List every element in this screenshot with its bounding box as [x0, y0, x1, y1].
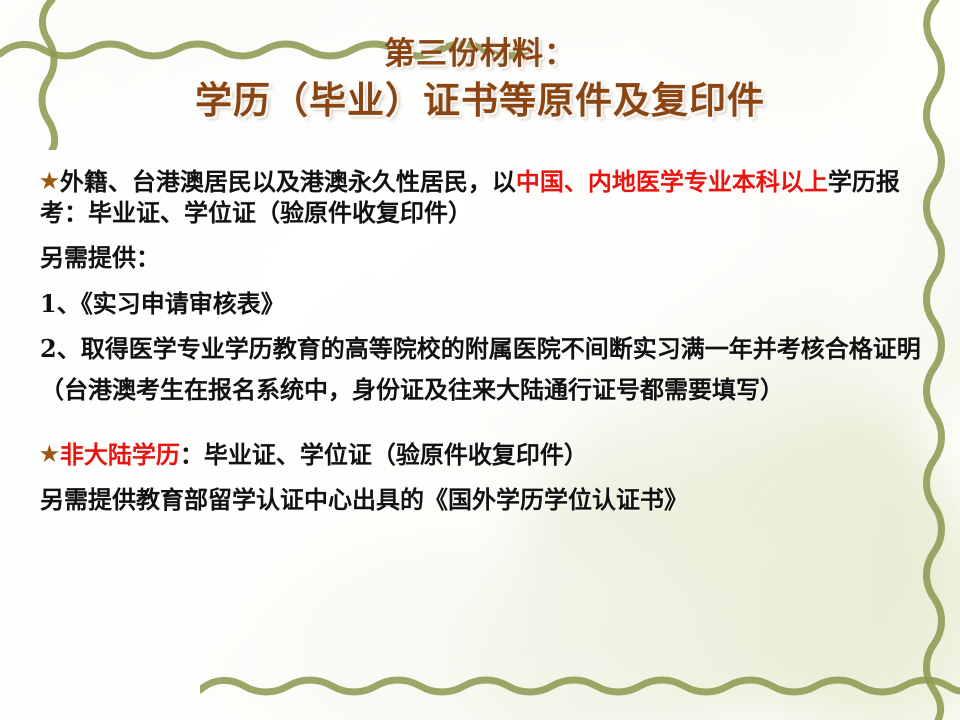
p-note-taiwan-hk-macao: （台港澳考生在报名系统中，身份证及往来大陆通行证号都需要填写） [40, 374, 925, 405]
star-bullet-icon: ★ [40, 168, 59, 193]
p-also-required-2: 另需提供教育部留学认证中心出具的《国外学历学位认证书》 [40, 484, 925, 515]
slide-title-line-2: 学历（毕业）证书等原件及复印件 [0, 79, 960, 123]
p-non-mainland-degree: ★非大陆学历：毕业证、学位证（验原件收复印件） [40, 439, 925, 470]
text-segment: 另需提供教育部留学认证中心出具的《国外学历学位认证书》 [40, 485, 688, 514]
presentation-slide: 第三份材料： 学历（毕业）证书等原件及复印件 ★外籍、台港澳居民以及港澳永久性居… [0, 0, 960, 720]
text-segment: 2、取得医学专业学历教育的高等院校的附属医院不间断实习满一年并考核合格证明 [40, 334, 921, 363]
text-segment: 非大陆学历 [60, 440, 180, 469]
p-item-1: 1、《实习申请审核表》 [40, 288, 925, 319]
text-segment: ：毕业证、学位证（验原件收复印件） [180, 440, 588, 469]
slide-title: 第三份材料： 学历（毕业）证书等原件及复印件 [0, 36, 960, 122]
star-bullet-icon: ★ [40, 441, 59, 466]
background-leaf-blob [20, 600, 280, 720]
text-segment: 1、《实习申请审核表》 [40, 289, 285, 318]
p-also-required-1: 另需提供： [40, 242, 925, 273]
p-item-2: 2、取得医学专业学历教育的高等院校的附属医院不间断实习满一年并考核合格证明 [40, 333, 925, 364]
text-segment: 中国、内地医学专业本科以上 [516, 167, 828, 196]
text-segment: 外籍、台港澳居民以及港澳永久性居民，以 [60, 167, 516, 196]
background-leaf-blob [250, 540, 670, 720]
border-wave-bottom [200, 668, 960, 712]
background-leaf-blob [470, 560, 730, 720]
p-overseas-mainland-degree: ★外籍、台港澳居民以及港澳永久性居民，以中国、内地医学专业本科以上学历报考：毕业… [40, 166, 925, 228]
slide-body: ★外籍、台港澳居民以及港澳永久性居民，以中国、内地医学专业本科以上学历报考：毕业… [40, 166, 925, 530]
slide-title-line-1: 第三份材料： [0, 36, 960, 73]
text-segment: 另需提供： [40, 243, 160, 272]
text-segment: （台港澳考生在报名系统中，身份证及往来大陆通行证号都需要填写） [40, 375, 784, 404]
